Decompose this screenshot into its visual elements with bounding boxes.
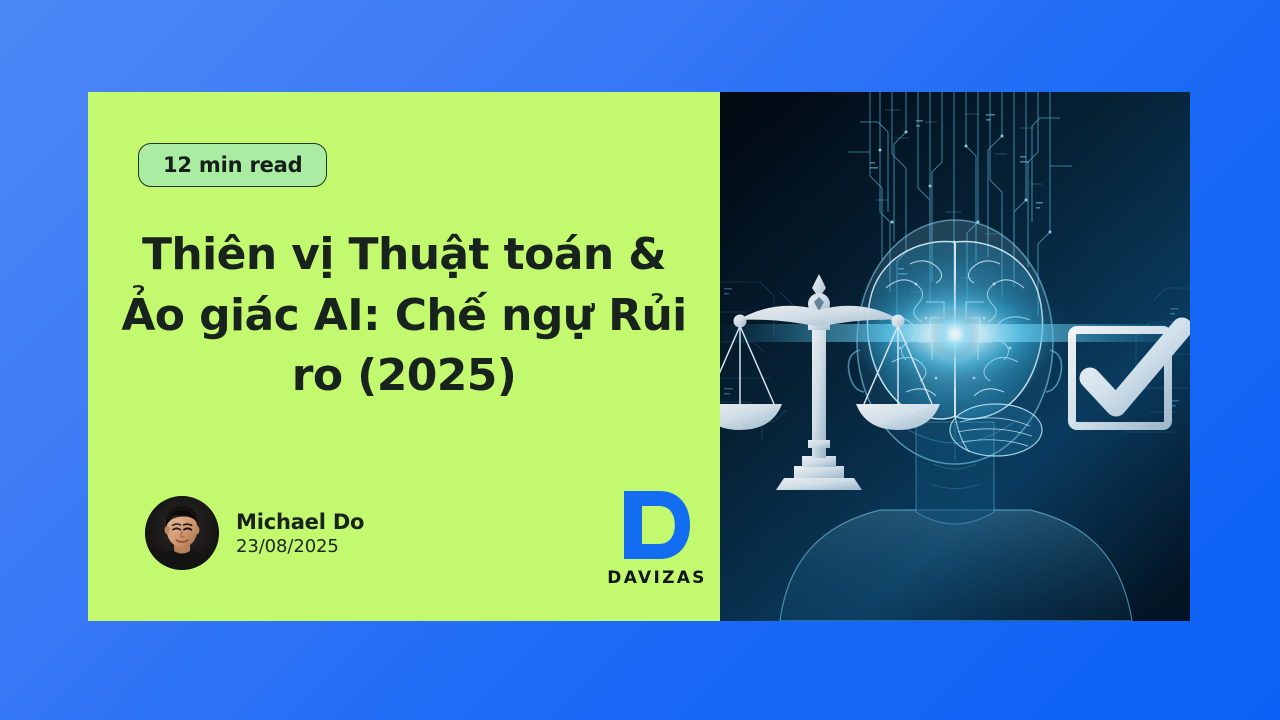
author-meta: Michael Do 23/08/2025 (236, 510, 364, 557)
davizas-d-icon (616, 486, 698, 564)
article-card[interactable]: 12 min read Thiên vị Thuật toán & Ảo giá… (88, 92, 1190, 621)
page-title: Thiên vị Thuật toán & Ảo giác AI: Chế ng… (114, 225, 694, 407)
brand-logo[interactable]: DAVIZAS (607, 486, 707, 588)
author-name: Michael Do (236, 510, 364, 534)
author-row: Michael Do 23/08/2025 (145, 496, 364, 570)
publish-date: 23/08/2025 (236, 536, 364, 557)
brand-name: DAVIZAS (607, 568, 706, 588)
read-time-badge: 12 min read (138, 143, 327, 187)
hero-image (720, 92, 1190, 621)
card-left-panel: 12 min read Thiên vị Thuật toán & Ảo giá… (88, 92, 720, 621)
avatar (145, 496, 219, 570)
